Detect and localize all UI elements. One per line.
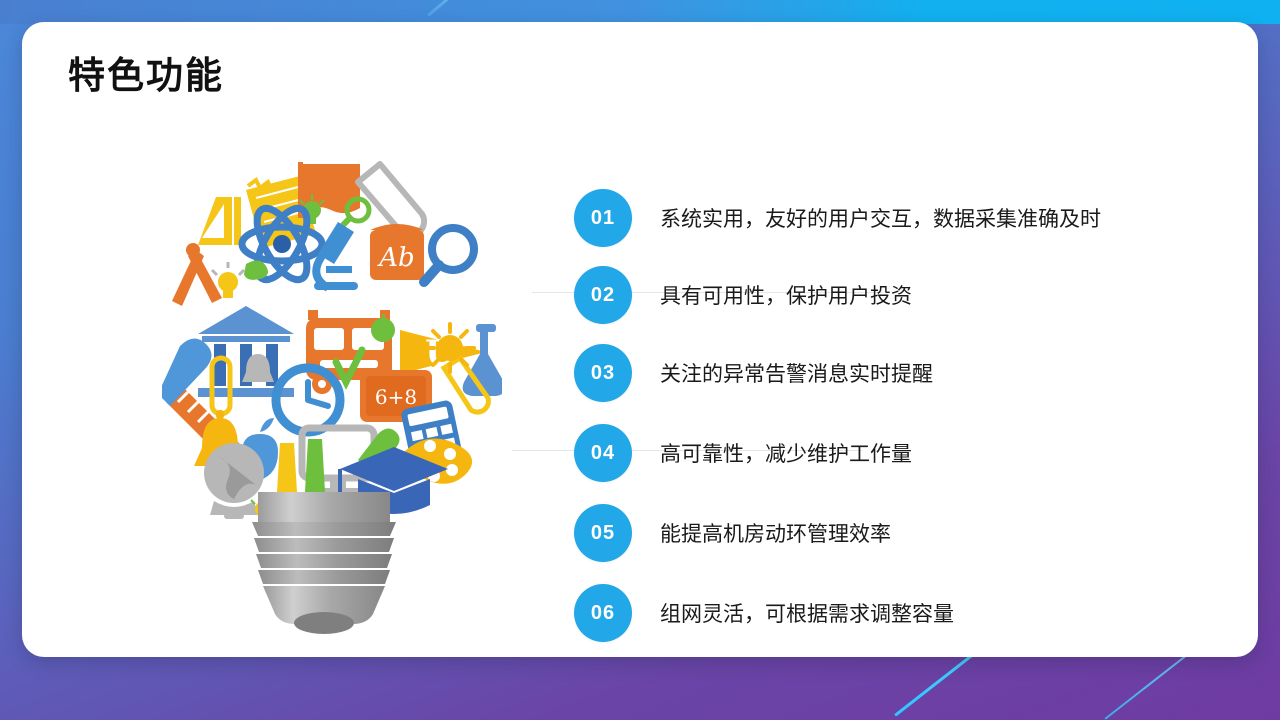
svg-text:Ab: Ab <box>377 243 414 273</box>
feature-number-badge: 02 <box>574 266 632 324</box>
feature-text: 高可靠性，减少维护工作量 <box>660 438 912 468</box>
sun-icon <box>426 324 474 372</box>
lightbulb-screw-base <box>244 492 404 637</box>
feature-number-badge: 05 <box>574 504 632 562</box>
content-card: 特色功能 <box>22 22 1258 657</box>
feature-number-badge: 06 <box>574 584 632 642</box>
feature-text: 关注的异常告警消息实时提醒 <box>660 358 933 388</box>
flask-icon <box>463 324 502 396</box>
page-title: 特色功能 <box>68 56 224 97</box>
triangle-ruler-icon <box>198 197 241 245</box>
svg-text:6+8: 6+8 <box>375 385 417 409</box>
feature-item-03[interactable]: 03 关注的异常告警消息实时提醒 <box>574 342 933 404</box>
magnifier-blue-icon <box>424 228 474 282</box>
education-lightbulb-illustration: Ab <box>162 152 502 652</box>
feature-item-02[interactable]: 02 具有可用性，保护用户投资 <box>574 264 912 326</box>
feature-item-01[interactable]: 01 系统实用，友好的用户交互，数据采集准确及时 <box>574 187 1101 249</box>
feature-item-04[interactable]: 04 高可靠性，减少维护工作量 <box>574 422 912 484</box>
background-top-left-band <box>0 0 680 24</box>
feature-text: 具有可用性，保护用户投资 <box>660 280 912 310</box>
feature-item-05[interactable]: 05 能提高机房动环管理效率 <box>574 502 891 564</box>
feature-list: 01 系统实用，友好的用户交互，数据采集准确及时 02 具有可用性，保护用户投资… <box>512 182 1232 662</box>
feature-text: 能提高机房动环管理效率 <box>660 518 891 548</box>
feature-number-badge: 03 <box>574 344 632 402</box>
feature-text: 组网灵活，可根据需求调整容量 <box>660 598 954 628</box>
clock-icon <box>276 368 340 432</box>
slide: 特色功能 <box>0 0 1280 720</box>
feature-number-badge: 01 <box>574 189 632 247</box>
feature-text: 系统实用，友好的用户交互，数据采集准确及时 <box>660 203 1101 233</box>
palette-small-icon <box>244 260 268 279</box>
feature-item-06[interactable]: 06 组网灵活，可根据需求调整容量 <box>574 582 954 644</box>
feature-number-badge: 04 <box>574 424 632 482</box>
background-top-right-band <box>640 0 1280 24</box>
book-ab-icon: Ab <box>370 224 424 280</box>
microscope-icon <box>314 222 358 290</box>
